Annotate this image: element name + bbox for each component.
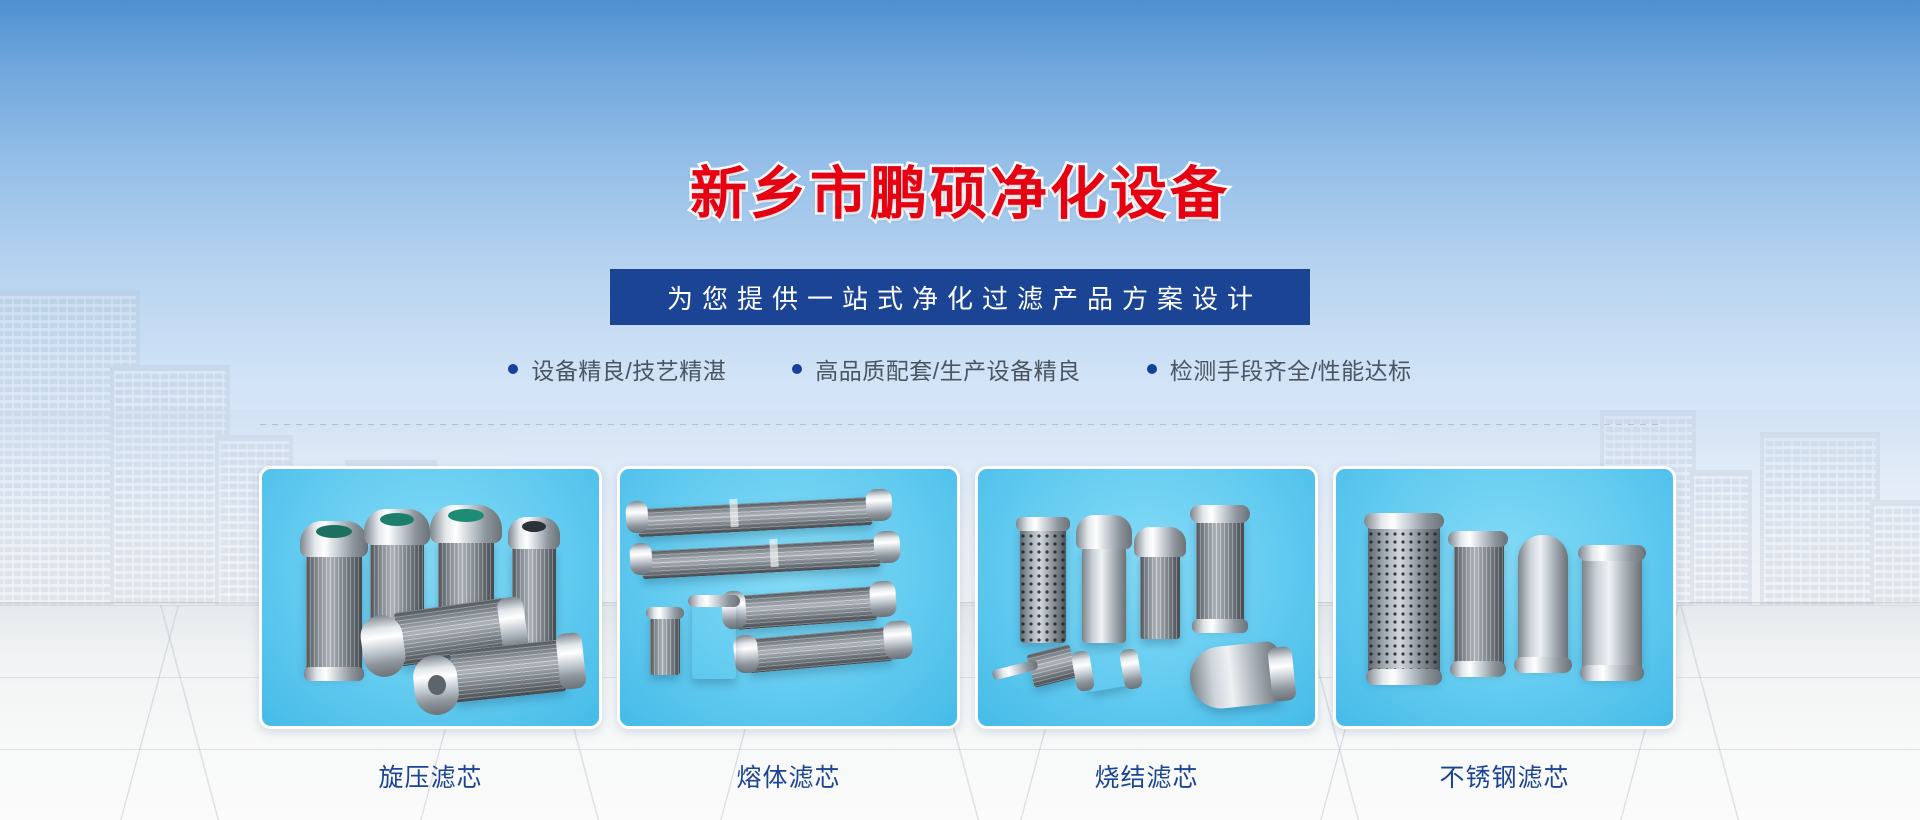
product-caption: 不锈钢滤芯	[1333, 758, 1676, 794]
hero-banner: 新乡市鹏硕净化设备 为您提供一站式净化过滤产品方案设计 设备精良/技艺精湛 高品…	[0, 0, 1920, 820]
feature-label: 设备精良/技艺精湛	[531, 352, 726, 386]
product-caption: 熔体滤芯	[617, 758, 960, 794]
subtitle-banner: 为您提供一站式净化过滤产品方案设计	[610, 269, 1310, 325]
feature-list: 设备精良/技艺精湛 高品质配套/生产设备精良 检测手段齐全/性能达标	[0, 352, 1920, 386]
feature-item: 设备精良/技艺精湛	[508, 352, 726, 386]
page-title: 新乡市鹏硕净化设备	[0, 148, 1920, 230]
product-caption: 烧结滤芯	[975, 758, 1318, 794]
product-card[interactable]: 不锈钢滤芯	[1333, 466, 1676, 794]
bullet-dot-icon	[792, 364, 802, 374]
product-card[interactable]: 烧结滤芯	[975, 466, 1318, 794]
feature-label: 检测手段齐全/性能达标	[1170, 352, 1412, 386]
product-card-list: 旋压滤芯	[259, 466, 1676, 794]
product-card[interactable]: 熔体滤芯	[617, 466, 960, 794]
feature-item: 检测手段齐全/性能达标	[1147, 352, 1412, 386]
product-image-stainless	[1333, 466, 1676, 729]
feature-item: 高品质配套/生产设备精良	[792, 352, 1080, 386]
product-image-melt	[617, 466, 960, 729]
bullet-dot-icon	[1147, 364, 1157, 374]
product-image-spin-pressed	[259, 466, 602, 729]
subtitle-text: 为您提供一站式净化过滤产品方案设计	[658, 279, 1262, 316]
product-image-sintered	[975, 466, 1318, 729]
bullet-dot-icon	[508, 364, 518, 374]
feature-label: 高品质配套/生产设备精良	[815, 352, 1080, 386]
product-card[interactable]: 旋压滤芯	[259, 466, 602, 794]
product-caption: 旋压滤芯	[259, 758, 602, 794]
section-divider	[260, 424, 1660, 425]
